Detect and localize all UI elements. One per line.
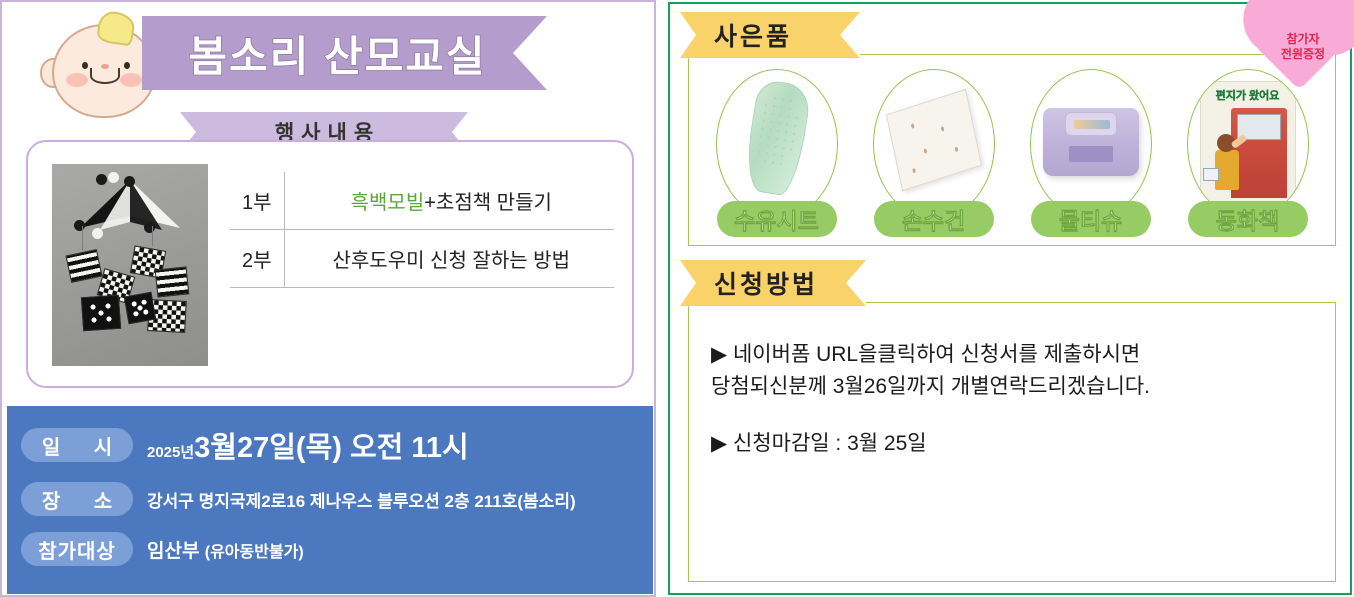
mobile-cube-icon [155, 266, 190, 297]
program-desc-rest: +초점책 만들기 [424, 192, 552, 214]
table-row: 2부 산후도우미 신청 잘하는 방법 [230, 230, 614, 288]
baby-eye-right-icon [124, 62, 130, 69]
program-part: 1부 [230, 172, 284, 230]
gift-box: 수유시트 손수건 물티슈 [688, 54, 1336, 246]
baby-cheek-right-icon [120, 73, 142, 87]
section-header-apply-label: 신청방법 [714, 265, 818, 301]
gift-image-circle [873, 69, 995, 219]
info-row-datetime: 일 시 2025년3월27일(목) 오전 11시 [21, 424, 653, 466]
baby-smile-icon [90, 68, 120, 84]
right-panel: 사은품 참가자 전원증정 수유시트 손수건 [668, 2, 1352, 595]
storybook-mailbox-icon [1231, 108, 1287, 198]
section-header-gift: 사은품 [680, 12, 860, 58]
mobile-bead-icon [124, 176, 135, 187]
program-desc-rest: 산후도우미 신청 잘하는 방법 [333, 250, 570, 272]
mobile-bead-icon [92, 228, 103, 239]
mobile-cube-icon [81, 295, 121, 332]
info-label-audience: 참가대상 [21, 532, 133, 566]
event-content-box: 1부 흑백모빌+초점책 만들기 2부 산후도우미 신청 잘하는 방법 [26, 140, 634, 388]
info-value-datetime: 2025년3월27일(목) 오전 11시 [147, 424, 469, 466]
page-title: 봄소리 산모교실 [188, 23, 500, 84]
mobile-cube-icon [124, 292, 156, 324]
storybook-cover-title: 편지가 왔어요 [1201, 87, 1295, 103]
mobile-string [82, 226, 83, 250]
participant-gift-badge: 참가자 전원증정 [1260, 8, 1346, 82]
gift-image-circle [1030, 69, 1152, 219]
program-desc: 흑백모빌+초점책 만들기 [284, 172, 614, 230]
info-value-location: 강서구 명지국제2로16 제나우스 블루오션 2층 211호(봄소리) [147, 487, 576, 512]
audience-note: (유아동반불가) [205, 544, 304, 561]
baby-cheek-left-icon [66, 73, 88, 87]
mobile-bead-icon [144, 222, 155, 233]
apply-line-submit: ▶ 네이버폼 URL을클릭하여 신청서를 제출하시면 당첨되신분께 3월26일까… [711, 339, 1317, 402]
apply-box: ▶ 네이버폼 URL을클릭하여 신청서를 제출하시면 당첨되신분께 3월26일까… [688, 302, 1336, 582]
participant-gift-badge-text: 참가자 전원증정 [1260, 32, 1346, 62]
storybook-icon: 편지가 왔어요 [1200, 81, 1296, 207]
gift-image-circle [716, 69, 838, 219]
baby-nose-icon [101, 64, 109, 69]
wet-wipes-band-icon [1069, 146, 1113, 162]
handkerchief-icon [885, 89, 981, 192]
info-row-audience: 참가대상 임산부 (유아동반불가) [21, 532, 653, 566]
info-value-audience: 임산부 (유아동반불가) [147, 536, 304, 563]
wet-wipes-icon [1043, 108, 1139, 176]
program-desc-highlight: 흑백모빌 [351, 192, 425, 214]
apply-line-deadline: ▶ 신청마감일 : 3월 25일 [711, 428, 1317, 460]
gift-items-list: 수유시트 손수건 물티슈 [689, 55, 1335, 245]
mobile-bead-icon [74, 220, 85, 231]
wet-wipes-lid-icon [1065, 112, 1117, 136]
gift-item-storybook: 편지가 왔어요 동화책 [1172, 63, 1323, 245]
audience-main: 임산부 [147, 541, 199, 562]
mobile-cube-icon [65, 249, 102, 283]
left-panel: 봄소리 산모교실 행사내용 [0, 0, 656, 597]
info-row-location: 장 소 강서구 명지국제2로16 제나우스 블루오션 2층 211호(봄소리) [21, 482, 653, 516]
section-header-gift-label: 사은품 [714, 17, 792, 53]
gift-label: 물티슈 [1031, 201, 1151, 237]
mobile-bead-icon [96, 174, 107, 185]
mobile-string [152, 226, 153, 246]
program-table: 1부 흑백모빌+초점책 만들기 2부 산후도우미 신청 잘하는 방법 [230, 172, 614, 288]
gift-item-handkerchief: 손수건 [858, 63, 1009, 245]
program-part: 2부 [230, 230, 284, 288]
gift-image-circle: 편지가 왔어요 [1187, 69, 1309, 219]
table-row: 1부 흑백모빌+초점책 만들기 [230, 172, 614, 230]
baby-eye-left-icon [82, 62, 88, 69]
storybook-letter-icon [1203, 168, 1219, 181]
section-header-apply: 신청방법 [680, 260, 866, 306]
mobile-photo-image [52, 164, 208, 366]
mobile-bead-icon [108, 172, 119, 183]
info-label-datetime: 일 시 [21, 428, 133, 462]
info-year: 2025년 [147, 444, 194, 461]
title-ribbon: 봄소리 산모교실 [142, 16, 547, 90]
gift-item-wet-wipes: 물티슈 [1015, 63, 1166, 245]
nursing-seat-icon [741, 78, 812, 197]
gift-label: 손수건 [874, 201, 994, 237]
gift-item-nursing-seat: 수유시트 [701, 63, 852, 245]
gift-label: 수유시트 [717, 201, 837, 237]
gift-label: 동화책 [1188, 201, 1308, 237]
info-label-location: 장 소 [21, 482, 133, 516]
program-desc: 산후도우미 신청 잘하는 방법 [284, 230, 614, 288]
info-panel: 일 시 2025년3월27일(목) 오전 11시 장 소 강서구 명지국제2로1… [7, 406, 653, 594]
info-datetime: 3월27일(목) 오전 11시 [194, 432, 469, 464]
